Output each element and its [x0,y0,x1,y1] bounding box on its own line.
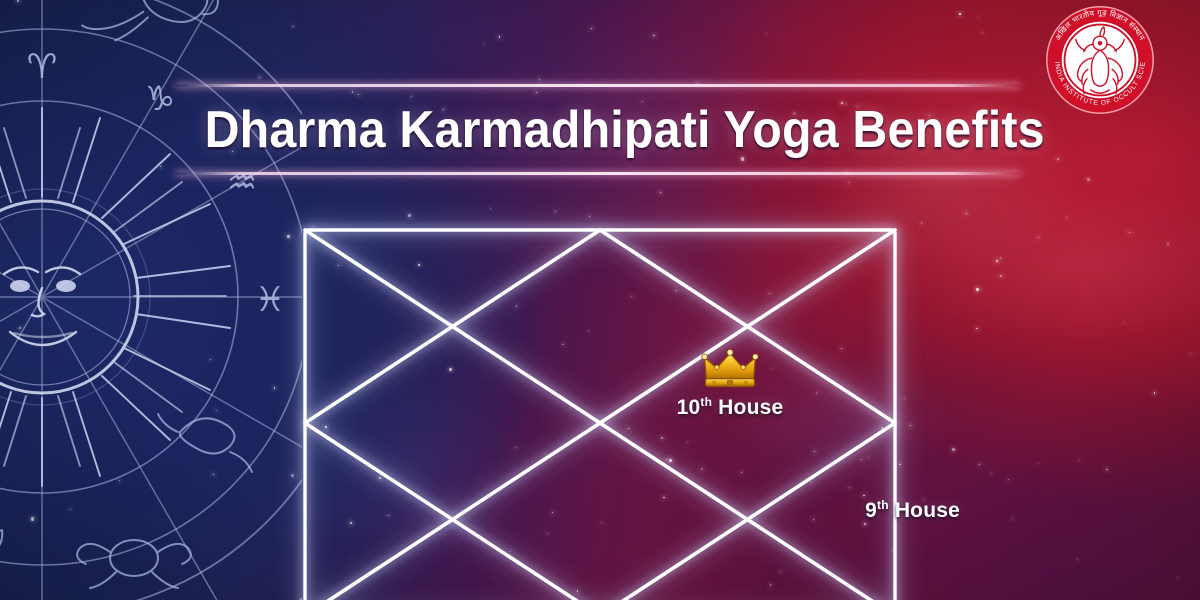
house-word-10: House [718,396,783,419]
house-marker-9th[interactable]: 9th House [700,500,960,521]
house-marker-10th-label: 10th House [640,397,820,418]
banner-stage: ♈ ♉ ♊ ♋ ♌ ♍ ♑ ♒ ♓ [0,0,1200,600]
house-ordinal-10: th [700,395,712,409]
crown-icon [701,348,759,390]
all-india-institute-of-occult-science-logo[interactable]: अखिल भारतीय गूढ़ विज्ञान संस्थान ALL IND… [1044,4,1156,116]
house-marker-9th-label: 9th House [700,500,960,521]
title-divider-bottom [175,172,1020,175]
house-word-9: House [895,499,960,522]
title-block: Dharma Karmadhipati Yoga Benefits [175,84,1020,175]
house-number-10: 10 [677,396,701,419]
house-number-9: 9 [865,499,877,522]
page-title: Dharma Karmadhipati Yoga Benefits [205,87,991,172]
house-marker-10th[interactable]: 10th House [640,348,820,418]
house-ordinal-9: th [877,498,889,512]
